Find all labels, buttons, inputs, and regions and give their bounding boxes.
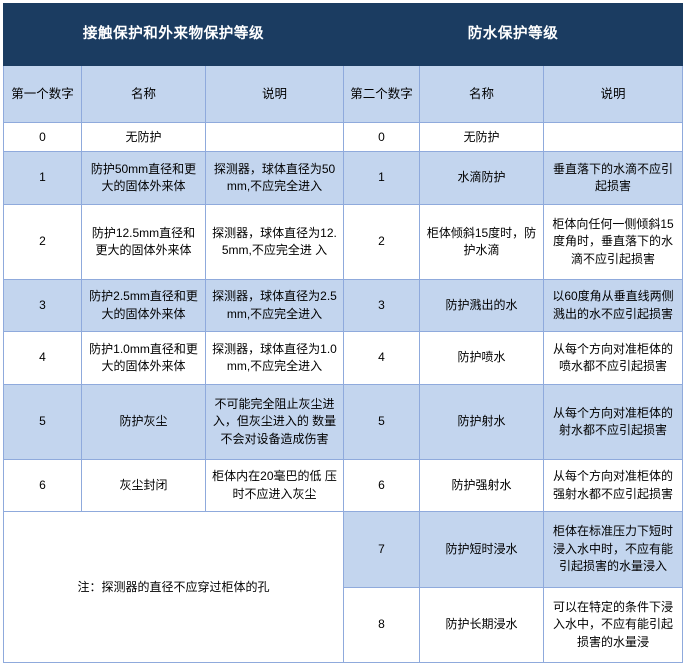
first-digit-value: 2 bbox=[4, 204, 82, 279]
second-digit-value: 6 bbox=[344, 460, 420, 512]
first-digit-name: 防护1.0mm直径和更大的固体外来体 bbox=[82, 332, 206, 384]
first-digit-name: 防护2.5mm直径和更大的固体外来体 bbox=[82, 280, 206, 332]
second-digit-name: 防护喷水 bbox=[420, 332, 544, 384]
banner-title-right: 防水保护等级 bbox=[344, 4, 683, 66]
first-digit-value: 0 bbox=[4, 123, 82, 152]
table-row: 1 防护50mm直径和更大的固体外来体 探测器，球体直径为50mm,不应完全进入… bbox=[4, 152, 683, 204]
table-row: 4 防护1.0mm直径和更大的固体外来体 探测器，球体直径为1.0mm,不应完全… bbox=[4, 332, 683, 384]
second-digit-desc: 从每个方向对准柜体的喷水都不应引起损害 bbox=[544, 332, 683, 384]
first-digit-name: 无防护 bbox=[82, 123, 206, 152]
table-row: 6 灰尘封闭 柜体内在20毫巴的低 压时不应进入灰尘 6 防护强射水 从每个方向… bbox=[4, 460, 683, 512]
first-digit-name: 防护50mm直径和更大的固体外来体 bbox=[82, 152, 206, 204]
table-row: 注：探测器的直径不应穿过柜体的孔 7 防护短时浸水 柜体在标准压力下短时浸入水中… bbox=[4, 512, 683, 587]
column-header-row: 第一个数字 名称 说明 第二个数字 名称 说明 bbox=[4, 66, 683, 123]
second-digit-value: 8 bbox=[344, 587, 420, 662]
second-digit-name: 防护强射水 bbox=[420, 460, 544, 512]
first-digit-value: 5 bbox=[4, 384, 82, 459]
second-digit-value: 0 bbox=[344, 123, 420, 152]
ip-protection-table: 接触保护和外来物保护等级 防水保护等级 第一个数字 名称 说明 第二个数字 名称… bbox=[3, 3, 683, 663]
second-digit-value: 1 bbox=[344, 152, 420, 204]
second-digit-desc: 以60度角从垂直线两侧溅出的水不应引起损害 bbox=[544, 280, 683, 332]
second-digit-name: 防护溅出的水 bbox=[420, 280, 544, 332]
banner-title-left: 接触保护和外来物保护等级 bbox=[4, 4, 344, 66]
second-digit-desc: 柜体在标准压力下短时浸入水中时，不应有能引起损害的水量浸入 bbox=[544, 512, 683, 587]
second-digit-desc bbox=[544, 123, 683, 152]
second-digit-value: 4 bbox=[344, 332, 420, 384]
second-digit-value: 5 bbox=[344, 384, 420, 459]
second-digit-value: 3 bbox=[344, 280, 420, 332]
header-desc-left: 说明 bbox=[206, 66, 344, 123]
footnote: 注：探测器的直径不应穿过柜体的孔 bbox=[4, 512, 344, 663]
second-digit-desc: 从每个方向对准柜体的射水都不应引起损害 bbox=[544, 384, 683, 459]
header-first-digit: 第一个数字 bbox=[4, 66, 82, 123]
first-digit-value: 1 bbox=[4, 152, 82, 204]
second-digit-value: 7 bbox=[344, 512, 420, 587]
first-digit-desc: 柜体内在20毫巴的低 压时不应进入灰尘 bbox=[206, 460, 344, 512]
first-digit-name: 灰尘封闭 bbox=[82, 460, 206, 512]
second-digit-name: 防护短时浸水 bbox=[420, 512, 544, 587]
header-second-digit: 第二个数字 bbox=[344, 66, 420, 123]
banner-row: 接触保护和外来物保护等级 防水保护等级 bbox=[4, 4, 683, 66]
second-digit-name: 防护长期浸水 bbox=[420, 587, 544, 662]
first-digit-desc: 不可能完全阻止灰尘进入，但灰尘进入的 数量不会对设备造成伤害 bbox=[206, 384, 344, 459]
table-row: 3 防护2.5mm直径和更大的固体外来体 探测器，球体直径为2.5mm,不应完全… bbox=[4, 280, 683, 332]
second-digit-desc: 柜体向任何一侧倾斜15度角时，垂直落下的水滴不应引起损害 bbox=[544, 204, 683, 279]
header-desc-right: 说明 bbox=[544, 66, 683, 123]
first-digit-desc: 探测器，球体直径为2.5mm,不应完全进入 bbox=[206, 280, 344, 332]
second-digit-name: 柜体倾斜15度时，防护水滴 bbox=[420, 204, 544, 279]
first-digit-desc: 探测器，球体直径为1.0mm,不应完全进入 bbox=[206, 332, 344, 384]
table-row: 2 防护12.5mm直径和更大的固体外来体 探测器，球体直径为12.5mm,不应… bbox=[4, 204, 683, 279]
table-row: 5 防护灰尘 不可能完全阻止灰尘进入，但灰尘进入的 数量不会对设备造成伤害 5 … bbox=[4, 384, 683, 459]
second-digit-desc: 从每个方向对准柜体的强射水都不应引起损害 bbox=[544, 460, 683, 512]
table-row: 0 无防护 0 无防护 bbox=[4, 123, 683, 152]
ip-rating-sheet: 接触保护和外来物保护等级 防水保护等级 第一个数字 名称 说明 第二个数字 名称… bbox=[0, 0, 687, 668]
header-name-right: 名称 bbox=[420, 66, 544, 123]
second-digit-name: 无防护 bbox=[420, 123, 544, 152]
second-digit-name: 防护射水 bbox=[420, 384, 544, 459]
second-digit-desc: 垂直落下的水滴不应引起损害 bbox=[544, 152, 683, 204]
second-digit-value: 2 bbox=[344, 204, 420, 279]
first-digit-desc: 探测器，球体直径为12.5mm,不应完全进 入 bbox=[206, 204, 344, 279]
second-digit-name: 水滴防护 bbox=[420, 152, 544, 204]
first-digit-name: 防护12.5mm直径和更大的固体外来体 bbox=[82, 204, 206, 279]
second-digit-desc: 可以在特定的条件下浸入水中，不应有能引起损害的水量浸 bbox=[544, 587, 683, 662]
first-digit-desc: 探测器，球体直径为50mm,不应完全进入 bbox=[206, 152, 344, 204]
first-digit-value: 6 bbox=[4, 460, 82, 512]
first-digit-desc bbox=[206, 123, 344, 152]
first-digit-value: 4 bbox=[4, 332, 82, 384]
first-digit-name: 防护灰尘 bbox=[82, 384, 206, 459]
header-name-left: 名称 bbox=[82, 66, 206, 123]
first-digit-value: 3 bbox=[4, 280, 82, 332]
